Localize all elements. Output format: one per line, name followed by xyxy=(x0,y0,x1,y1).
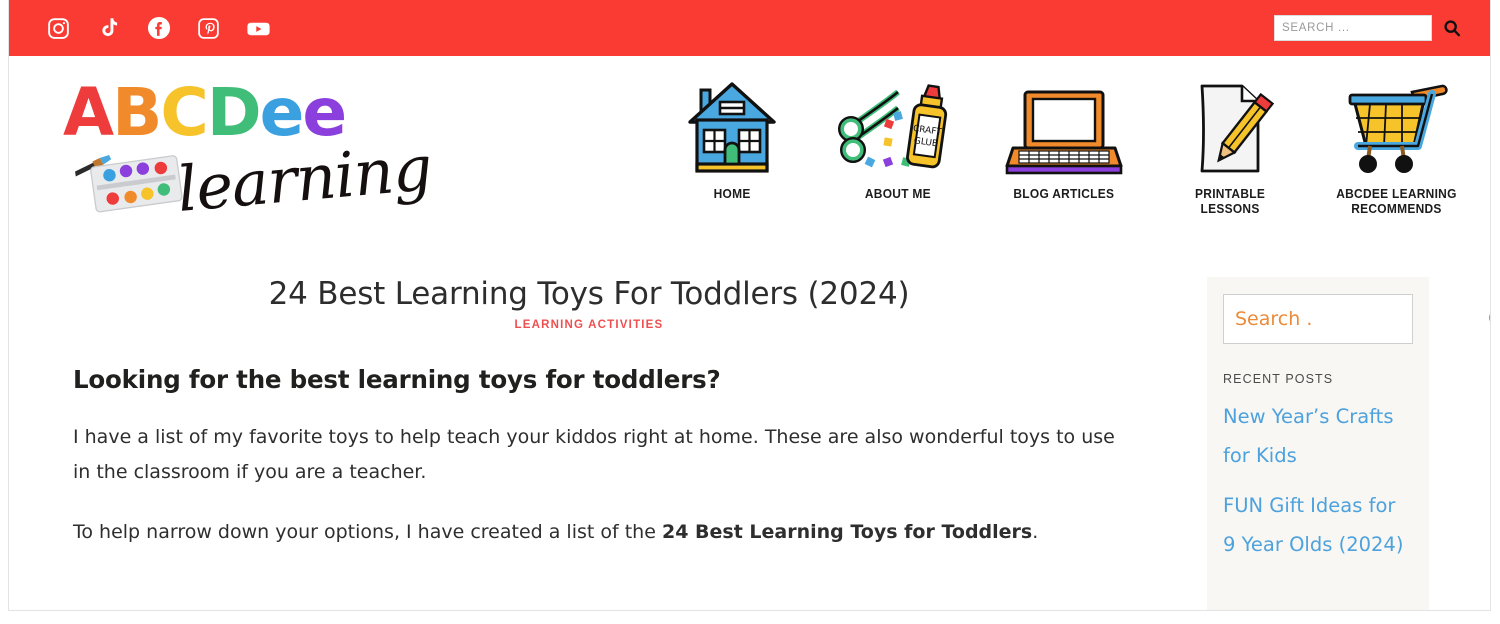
list-item: FUN Gift Ideas for 9 Year Olds (2024) xyxy=(1207,487,1429,564)
site-card: ABCDee learning xyxy=(8,0,1491,611)
header-search-input[interactable] xyxy=(1275,22,1436,34)
nav-item-home[interactable]: HOME xyxy=(649,78,815,202)
sidebar-search-box[interactable] xyxy=(1223,294,1413,344)
recent-post-link-2[interactable]: FUN Gift Ideas for 9 Year Olds (2024) xyxy=(1223,487,1413,564)
instagram-icon[interactable] xyxy=(45,15,72,42)
shopping-cart-icon xyxy=(1336,78,1456,178)
main-nav: HOME xyxy=(649,78,1479,217)
nav-item-printable-lessons[interactable]: PRINTABLE LESSONS xyxy=(1147,78,1313,217)
recent-post-link-1[interactable]: New Year’s Crafts for Kids xyxy=(1223,398,1413,475)
search-icon xyxy=(1442,18,1462,38)
youtube-icon[interactable] xyxy=(245,15,272,42)
article: 24 Best Learning Toys For Toddlers (2024… xyxy=(9,256,1169,550)
nav-label-printable-lessons: PRINTABLE LESSONS xyxy=(1195,187,1265,217)
post-category-link[interactable]: LEARNING ACTIVITIES xyxy=(9,319,1169,331)
header-search-button[interactable] xyxy=(1436,16,1468,40)
site-header: ABCDee learning xyxy=(9,56,1490,256)
nav-label-about-me: ABOUT ME xyxy=(865,187,931,202)
facebook-icon[interactable] xyxy=(145,15,172,42)
sidebar: RECENT POSTS New Year’s Crafts for Kids … xyxy=(1207,277,1429,610)
paper-pencil-icon xyxy=(1184,78,1276,178)
list-item: New Year’s Crafts for Kids xyxy=(1207,398,1429,475)
nav-item-about-me[interactable]: CRAFT GLUE ABOUT ME xyxy=(815,78,981,202)
post-body: Looking for the best learning toys for t… xyxy=(73,365,1133,550)
post-paragraph-1: I have a list of my favorite toys to hel… xyxy=(73,420,1133,489)
sidebar-search-button[interactable] xyxy=(1480,297,1491,341)
scissors-glue-icon: CRAFT GLUE xyxy=(838,78,958,178)
content-area: 24 Best Learning Toys For Toddlers (2024… xyxy=(9,256,1490,610)
post-subheading: Looking for the best learning toys for t… xyxy=(73,365,1133,394)
social-links xyxy=(45,0,272,56)
tiktok-icon[interactable] xyxy=(95,15,122,42)
header-search-box[interactable] xyxy=(1274,15,1432,41)
pinterest-icon[interactable] xyxy=(195,15,222,42)
page-title: 24 Best Learning Toys For Toddlers (2024… xyxy=(9,276,1169,312)
recent-posts-list: New Year’s Crafts for Kids FUN Gift Idea… xyxy=(1207,398,1429,564)
nav-label-blog-articles: BLOG ARTICLES xyxy=(1014,187,1115,202)
logo-wordmark: ABCDee xyxy=(63,80,345,146)
nav-item-blog-articles[interactable]: BLOG ARTICLES xyxy=(981,78,1147,202)
nav-label-abcdee-learning-recommends: ABCDEE LEARNING RECOMMENDS xyxy=(1336,187,1456,217)
post-paragraph-2-bold: 24 Best Learning Toys for Toddlers xyxy=(662,521,1032,543)
post-paragraph-2-after: . xyxy=(1032,521,1038,543)
sidebar-search-input[interactable] xyxy=(1224,307,1480,331)
recent-posts-heading: RECENT POSTS xyxy=(1223,372,1429,386)
post-paragraph-2: To help narrow down your options, I have… xyxy=(73,515,1133,550)
top-bar xyxy=(9,0,1490,56)
post-paragraph-2-before: To help narrow down your options, I have… xyxy=(73,521,662,543)
laptop-icon xyxy=(1001,78,1127,178)
nav-label-home: HOME xyxy=(713,187,750,202)
house-icon xyxy=(684,78,780,178)
page-root: ABCDee learning xyxy=(0,0,1500,624)
nav-item-abcdee-learning-recommends[interactable]: ABCDEE LEARNING RECOMMENDS xyxy=(1313,78,1479,217)
search-icon xyxy=(1486,308,1491,330)
site-logo[interactable]: ABCDee learning xyxy=(49,74,439,234)
